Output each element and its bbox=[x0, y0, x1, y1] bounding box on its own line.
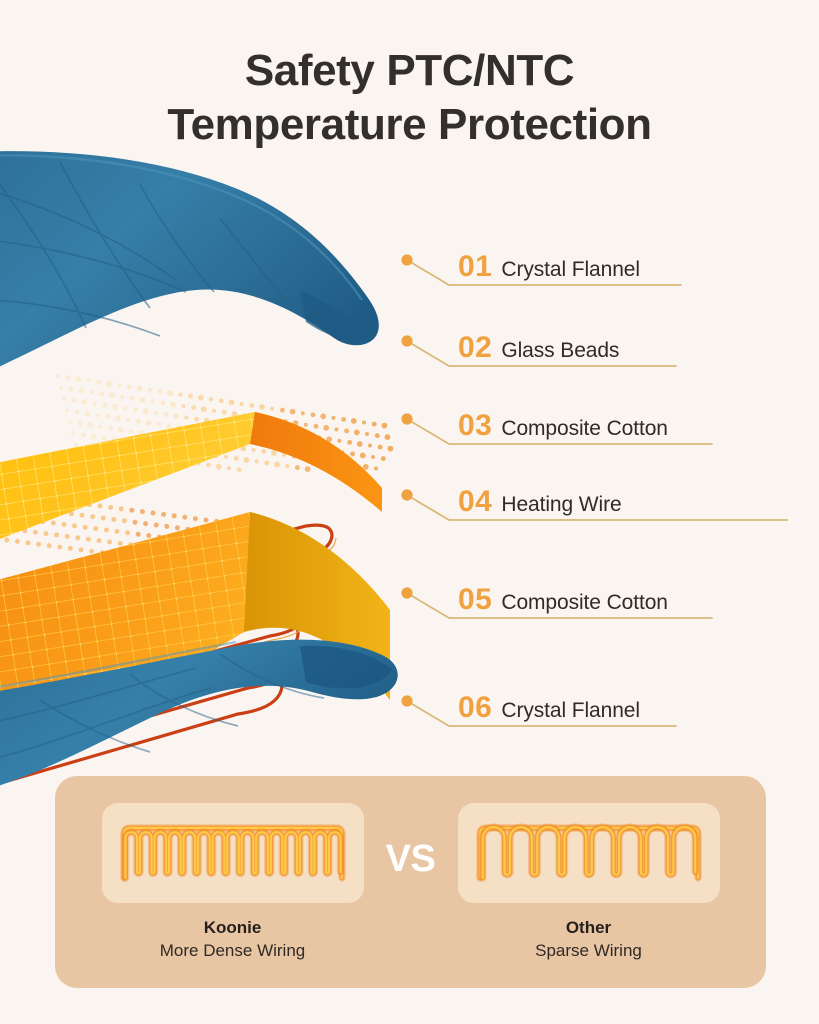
callout-item-01[interactable]: 01Crystal Flannel bbox=[0, 248, 819, 312]
infographic-root: Safety PTC/NTC Temperature Protection bbox=[0, 0, 819, 1024]
callout-number: 04 bbox=[458, 485, 492, 519]
callout-item-06[interactable]: 06Crystal Flannel bbox=[0, 689, 819, 753]
callout-text-group: 02Glass Beads bbox=[458, 331, 619, 365]
title-line-1: Safety PTC/NTC bbox=[0, 44, 819, 98]
callout-item-05[interactable]: 05Composite Cotton bbox=[0, 581, 819, 645]
callout-item-03[interactable]: 03Composite Cotton bbox=[0, 407, 819, 471]
callout-label: Heating Wire bbox=[501, 493, 621, 517]
callout-dot-marker bbox=[401, 489, 412, 500]
callout-dot-marker bbox=[401, 587, 412, 598]
callout-label: Glass Beads bbox=[501, 339, 619, 363]
comparison-side-other: Other Sparse Wiring bbox=[455, 776, 723, 961]
koonie-subtitle: More Dense Wiring bbox=[160, 941, 306, 961]
callout-number: 05 bbox=[458, 583, 492, 617]
vs-separator: VS bbox=[367, 776, 455, 881]
callout-number: 01 bbox=[458, 250, 492, 284]
callout-dot-marker bbox=[401, 335, 412, 346]
comparison-side-koonie: Koonie More Dense Wiring bbox=[99, 776, 367, 961]
comparison-panel: Koonie More Dense Wiring VS Other Sparse… bbox=[55, 776, 766, 988]
callout-item-02[interactable]: 02Glass Beads bbox=[0, 329, 819, 393]
title-line-2: Temperature Protection bbox=[0, 98, 819, 152]
callout-text-group: 06Crystal Flannel bbox=[458, 691, 640, 725]
dense-wiring-card bbox=[102, 803, 364, 903]
vs-label: VS bbox=[386, 838, 436, 881]
other-subtitle: Sparse Wiring bbox=[535, 941, 642, 961]
sparse-wiring-diagram bbox=[470, 820, 708, 886]
sparse-wiring-card bbox=[458, 803, 720, 903]
callout-text-group: 03Composite Cotton bbox=[458, 409, 668, 443]
callout-dot-marker bbox=[401, 695, 412, 706]
callout-text-group: 01Crystal Flannel bbox=[458, 250, 640, 284]
other-title: Other bbox=[566, 918, 611, 938]
dense-wiring-diagram bbox=[114, 820, 352, 886]
callout-number: 06 bbox=[458, 691, 492, 725]
callout-text-group: 04Heating Wire bbox=[458, 485, 622, 519]
page-title: Safety PTC/NTC Temperature Protection bbox=[0, 44, 819, 152]
callout-dot-marker bbox=[401, 413, 412, 424]
callout-label: Crystal Flannel bbox=[501, 258, 640, 282]
koonie-title: Koonie bbox=[204, 918, 262, 938]
callout-label: Crystal Flannel bbox=[501, 699, 640, 723]
callout-label: Composite Cotton bbox=[501, 591, 667, 615]
callout-item-04[interactable]: 04Heating Wire bbox=[0, 483, 819, 547]
callout-text-group: 05Composite Cotton bbox=[458, 583, 668, 617]
callout-number: 03 bbox=[458, 409, 492, 443]
callout-number: 02 bbox=[458, 331, 492, 365]
callout-dot-marker bbox=[401, 254, 412, 265]
callout-label: Composite Cotton bbox=[501, 417, 667, 441]
